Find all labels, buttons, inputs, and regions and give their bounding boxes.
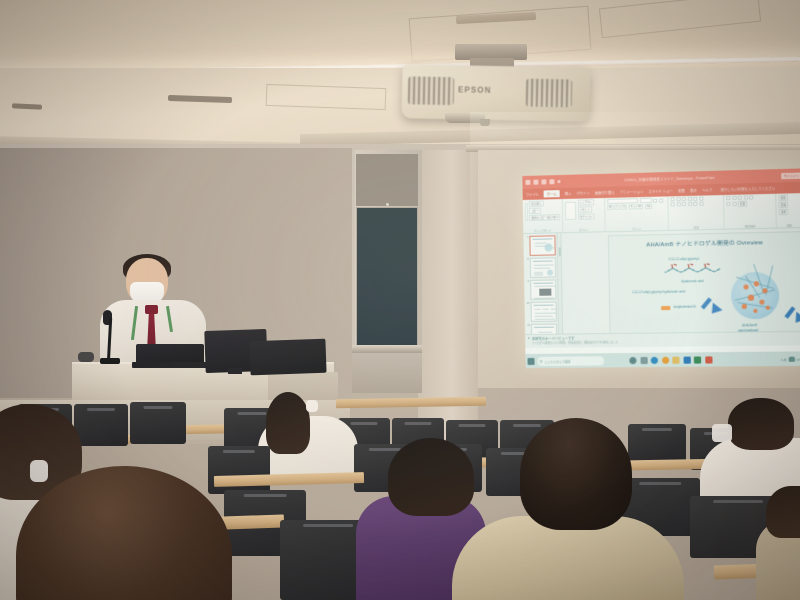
arrange-button[interactable]: 配置 [738, 201, 748, 207]
section-button[interactable]: セクション [578, 213, 595, 219]
chair-handle-slot [639, 482, 681, 485]
copy-button[interactable]: コピー [529, 208, 541, 214]
label-alkyl-glyceryl: C12-13 alkyl glyceryl [668, 257, 698, 262]
chair-handle-slot [237, 412, 266, 415]
thumbnail-number: 7 [524, 236, 528, 239]
chair-handle-slot [642, 428, 672, 431]
redo-icon[interactable] [541, 179, 546, 184]
format-painter-button[interactable]: 書式のコピー/貼り付け [529, 214, 560, 221]
search-icon: ⚲ [539, 359, 542, 364]
chair-handle-slot [513, 424, 541, 427]
tab-slideshow[interactable]: スライド ショー [648, 188, 673, 194]
font-size-select[interactable] [639, 198, 651, 203]
shape-rect-icon[interactable] [726, 196, 730, 200]
justify-icon[interactable] [688, 202, 692, 206]
italic-button[interactable]: I [615, 205, 620, 210]
thumbnail-preview [530, 257, 556, 278]
ribbon-group-slides: レイアウト リセット セクション スライド [563, 198, 606, 232]
select-button[interactable]: 選択 [779, 209, 789, 215]
columns-icon[interactable] [693, 202, 697, 206]
drug-particle [766, 306, 770, 310]
molecule-icon [662, 262, 722, 277]
ime-indicator[interactable]: A あ [781, 357, 787, 361]
chair-handle-slot [350, 422, 377, 425]
shape-arrow-icon[interactable] [743, 195, 747, 199]
tab-animations[interactable]: アニメーション [620, 189, 643, 195]
audience-hair [520, 418, 632, 530]
chair-handle-slot [458, 424, 485, 427]
bold-button[interactable]: B [607, 205, 613, 210]
taskbar-app-icons[interactable] [629, 356, 712, 364]
strikethrough-button[interactable]: S [628, 204, 634, 209]
tab-review[interactable]: 校閲 [678, 188, 685, 193]
ribbon-group-clipboard: 切り取り コピー 書式のコピー/貼り付け クリップボード [523, 199, 564, 233]
necktie-knot [145, 305, 158, 314]
shape-outline-icon[interactable] [726, 202, 730, 206]
layout-button[interactable]: レイアウト [577, 199, 594, 205]
align-right-icon[interactable] [682, 202, 686, 206]
chair[interactable] [74, 404, 128, 446]
slideshow-icon[interactable] [549, 179, 554, 184]
new-slide-button[interactable] [565, 201, 576, 219]
excel-icon[interactable] [683, 357, 690, 364]
chair-handle-slot [143, 406, 172, 409]
projector-vent-left [408, 76, 455, 105]
chair-handle-slot [404, 422, 431, 425]
drug-particle [754, 281, 759, 286]
change-case-button[interactable]: Aa [645, 204, 652, 209]
thumbnail-number: 11 [526, 324, 530, 327]
system-tray[interactable]: A あ 24°C ^ [781, 357, 800, 362]
projector: EPSON [401, 64, 590, 122]
chair-handle-slot [223, 450, 255, 453]
ribbon-group-label: クリップボード [523, 228, 562, 233]
face-mask [712, 424, 732, 442]
label-hyaluronic-acid: Hyaluronic acid [681, 279, 704, 283]
word-icon[interactable] [694, 356, 701, 363]
replace-button[interactable]: 置換 [779, 202, 789, 208]
character-spacing-button[interactable]: AV [636, 204, 644, 209]
tab-transitions[interactable]: 画面切り替え [595, 190, 615, 196]
drug-particle [762, 288, 767, 293]
blackboard-chalk-rail [352, 345, 422, 353]
quick-access-toolbar[interactable] [525, 179, 560, 185]
weather-widget[interactable]: 24°C [789, 357, 800, 362]
slide-thumbnail-9[interactable]: 9 [525, 279, 556, 300]
blackboard [356, 207, 418, 347]
confidence-monitor-1-stand [228, 368, 242, 374]
powerpoint-icon[interactable] [705, 356, 712, 363]
cloud-icon [789, 357, 795, 362]
legend-label-amphotericin-b: Amphotericin B [673, 305, 695, 309]
drug-particle [742, 304, 747, 309]
thumbnail-number: 8 [525, 258, 529, 261]
lecture-hall-photo: EPSON 210914_卒論中間発表スライド_Sanshoya - Power… [0, 0, 800, 600]
find-button[interactable]: 検索 [778, 194, 788, 200]
chair-handle-slot [244, 494, 287, 497]
shrink-font-icon[interactable] [659, 198, 663, 202]
presenter-laptop-base [132, 362, 210, 368]
chalk-mark [386, 203, 389, 206]
thumbnail-preview [531, 302, 557, 322]
increase-indent-icon[interactable] [687, 197, 691, 201]
thumbnail-number: 9 [525, 280, 529, 283]
sign-in-button[interactable]: サインイン [781, 172, 800, 179]
settings-icon[interactable] [629, 357, 636, 364]
chrome-icon[interactable] [661, 357, 668, 364]
drug-particle [743, 284, 748, 289]
folder-icon[interactable] [640, 357, 647, 364]
chevron-right-icon[interactable]: ▸ [528, 336, 530, 340]
window-title: 210914_卒論中間発表スライド_Sanshoya - PowerPoint [560, 173, 780, 184]
edge-icon[interactable] [651, 357, 658, 364]
powerpoint-workspace: 7 8 [523, 228, 800, 348]
notes-pane[interactable]: ▸ 本研究のオーバービューです ヒドロゲル開発からその物性、抗真菌活性、細胞毒性… [525, 331, 800, 348]
ceiling-panel-outline [266, 84, 387, 110]
slide-thumbnail-7[interactable]: 7 [524, 235, 555, 256]
slide-thumbnail-10[interactable]: 10 [526, 302, 557, 322]
paste-button[interactable] [525, 202, 528, 220]
ribbon-group-drawing: 配置 図形描画 [724, 194, 777, 229]
confidence-monitor-2[interactable] [249, 339, 326, 376]
slide-thumbnail-panel[interactable]: 7 8 [523, 233, 559, 348]
start-button[interactable] [527, 358, 534, 365]
tab-insert[interactable]: 挿入 [565, 191, 572, 196]
shape-line-icon[interactable] [732, 196, 736, 200]
nanohydrogel-particle [731, 272, 780, 320]
decrease-indent-icon[interactable] [682, 197, 686, 201]
thumbnail-preview [529, 235, 555, 256]
label-nanohydrogel-line1: AHA/AmB [742, 323, 757, 327]
tab-design[interactable]: デザイン [576, 190, 589, 195]
shape-fill-icon[interactable] [749, 195, 753, 199]
taskbar-search-input[interactable]: ⚲ ここに入力して検索 [537, 356, 604, 366]
molecule-schematic [662, 262, 722, 277]
tab-help[interactable]: ヘルプ [702, 187, 712, 192]
blackboard-lower-panel [352, 353, 422, 393]
text-direction-icon[interactable] [699, 197, 703, 201]
tell-me-search[interactable]: 実行したい作業を入力してください [720, 186, 775, 193]
audience-hair [266, 392, 310, 454]
podium-equipment [78, 352, 94, 362]
line-spacing-icon[interactable] [693, 197, 697, 201]
bullets-icon[interactable] [670, 197, 674, 201]
windows-taskbar[interactable]: ⚲ ここに入力して検索 A あ 24°C [525, 352, 800, 368]
smartart-icon[interactable] [699, 202, 703, 206]
arrow-1-head [707, 303, 723, 318]
audience-hair [728, 398, 794, 450]
chair-handle-slot [713, 500, 763, 503]
ribbon[interactable]: 切り取り コピー 書式のコピー/貼り付け クリップボード レイアウト リセット [523, 193, 800, 234]
arrow-2-head [791, 312, 800, 327]
label-conjugate: C12-13 alkyl glyceryl hyaluronic acid [632, 290, 685, 295]
blackboard-upper-panel [356, 154, 418, 206]
projector-vent-right [526, 79, 573, 108]
legend-color-chip [661, 306, 670, 310]
reset-button[interactable]: リセット [578, 206, 593, 212]
font-family-select[interactable] [607, 198, 638, 204]
chair[interactable] [130, 402, 186, 444]
projector-lens [445, 113, 485, 123]
drug-particle [753, 309, 757, 313]
thumbnail-number: 10 [526, 302, 530, 305]
numbering-icon[interactable] [676, 197, 680, 201]
chair-handle-slot [369, 448, 401, 451]
audience-hair [388, 438, 474, 516]
slide-title[interactable]: AHA/AmB ナノヒドロゲル開発の Ovreview [609, 237, 800, 249]
current-slide[interactable]: AHA/AmB ナノヒドロゲル開発の Ovreview C12-13 alkyl… [608, 231, 800, 343]
tab-view[interactable]: 表示 [690, 188, 697, 193]
align-left-icon[interactable] [671, 202, 675, 206]
slide-thumbnail-8[interactable]: 8 [525, 257, 556, 278]
shape-effects-icon[interactable] [732, 202, 736, 206]
projected-desktop: 210914_卒論中間発表スライド_Sanshoya - PowerPoint … [522, 168, 800, 368]
thumbnail-preview [530, 279, 556, 299]
drug-particle [759, 300, 764, 305]
slide-editing-stage[interactable]: AHA/AmB ナノヒドロゲル開発の Ovreview C12-13 alkyl… [561, 228, 800, 348]
undo-icon[interactable] [533, 180, 538, 185]
ribbon-group-label: 編集 [777, 223, 800, 228]
projector-brand-label: EPSON [458, 85, 492, 95]
microphone-base [100, 358, 120, 364]
ribbon-group-paragraph: 段落 [668, 195, 724, 230]
align-center-icon[interactable] [676, 202, 680, 206]
notes-subtext[interactable]: ヒドロゲル開発からその物性、抗真菌活性、細胞毒性までを評価しました [532, 340, 618, 345]
face-mask [306, 400, 318, 412]
shape-circle-icon[interactable] [738, 196, 742, 200]
cut-button[interactable]: 切り取り [529, 201, 543, 207]
save-icon[interactable] [525, 180, 530, 185]
powerpoint-window: 210914_卒論中間発表スライド_Sanshoya - PowerPoint … [522, 168, 800, 368]
chair-handle-slot [87, 408, 115, 411]
ribbon-group-editing: 検索 置換 選択 編集 [776, 193, 800, 227]
projector-foot [480, 119, 490, 126]
tab-file[interactable]: ファイル [526, 192, 539, 197]
drug-particle [748, 295, 754, 301]
tab-home[interactable]: ホーム [544, 190, 560, 197]
ribbon-group-font: B I U S AV Aa フォント [605, 196, 669, 231]
underline-button[interactable]: U [621, 205, 627, 210]
weather-temperature: 24°C [796, 357, 800, 361]
grow-font-icon[interactable] [653, 198, 657, 202]
explorer-icon[interactable] [672, 357, 679, 364]
face-mask [30, 460, 48, 482]
search-placeholder: ここに入力して検索 [544, 359, 570, 363]
chair-handle-slot [303, 524, 353, 527]
